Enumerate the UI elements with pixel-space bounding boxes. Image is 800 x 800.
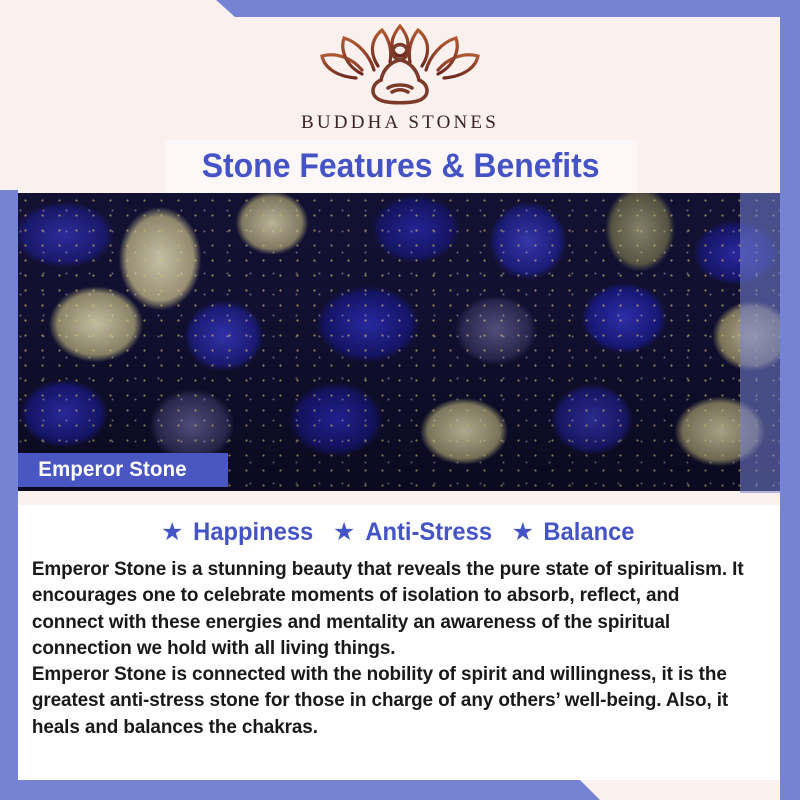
benefit-label-happiness: Happiness	[194, 518, 314, 547]
star-icon: ★	[512, 520, 534, 545]
frame-bar-right	[780, 0, 800, 800]
stone-name-label: Emperor Stone	[38, 458, 187, 482]
frame-bar-bottom	[0, 780, 800, 800]
photo-vignette-overlay	[0, 193, 800, 491]
photo-right-blue-veil	[740, 193, 780, 493]
brand-name: BUDDHA STONES	[301, 112, 499, 134]
benefit-item-balance: ★ Balance	[512, 518, 637, 547]
stone-name-badge: Emperor Stone	[18, 453, 228, 487]
page-title-band: Stone Features & Benefits	[165, 140, 637, 193]
star-icon: ★	[161, 520, 183, 545]
brand-logo: BUDDHA STONES	[0, 22, 800, 134]
description-paragraph-2: Emperor Stone is connected with the nobi…	[28, 661, 751, 740]
description-panel: ★ Happiness ★ Anti-Stress ★ Balance Empe…	[18, 505, 780, 780]
photo-bottom-strip	[18, 491, 780, 505]
description-paragraph-1: Emperor Stone is a stunning beauty that …	[28, 556, 751, 661]
page-title: Stone Features & Benefits	[202, 147, 600, 186]
benefit-label-balance: Balance	[543, 518, 634, 547]
benefit-label-anti-stress: Anti-Stress	[366, 518, 493, 547]
lotus-meditation-icon	[312, 22, 488, 106]
star-icon: ★	[333, 520, 355, 545]
lapis-lazuli-stones-photo	[0, 193, 800, 491]
benefit-item-happiness: ★ Happiness	[161, 518, 317, 547]
stone-benefits-poster: BUDDHA STONES Stone Features & Benefits …	[0, 0, 800, 800]
frame-bar-left	[0, 190, 18, 800]
benefits-row: ★ Happiness ★ Anti-Stress ★ Balance	[28, 518, 770, 547]
benefit-item-anti-stress: ★ Anti-Stress	[333, 518, 496, 547]
